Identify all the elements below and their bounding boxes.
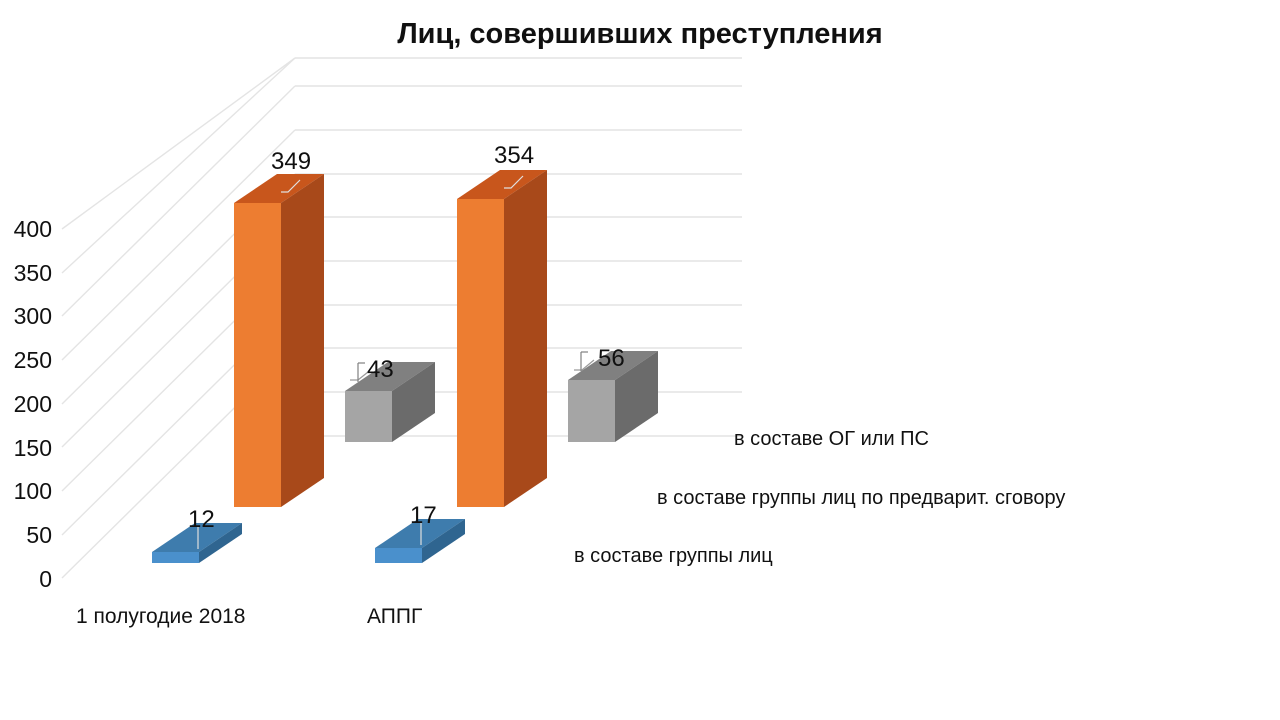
y-axis-tick-50: 50 — [0, 524, 52, 547]
value-label-g1-og-ps: 43 — [367, 358, 394, 382]
y-axis-tick-0: 0 — [0, 568, 52, 591]
x-axis-category-1: 1 полугодие 2018 — [76, 605, 246, 629]
value-label-g2-og-ps: 56 — [598, 347, 625, 371]
y-axis-tick-100: 100 — [0, 480, 52, 503]
y-axis-tick-400: 400 — [0, 218, 52, 241]
value-label-g1-gruppy-lic: 12 — [188, 508, 215, 532]
bar-g2-series-predvarit-sgovor[interactable] — [457, 170, 547, 507]
legend-item-predvarit-sgovor[interactable]: в составе группы лиц по предварит. сгово… — [657, 488, 1065, 508]
value-label-g2-predvarit-sgovor: 354 — [494, 144, 534, 168]
y-axis-tick-200: 200 — [0, 393, 52, 416]
y-axis-tick-150: 150 — [0, 437, 52, 460]
value-label-g1-predvarit-sgovor: 349 — [271, 150, 311, 174]
chart-canvas: Лиц, совершивших преступления — [0, 0, 1280, 720]
legend-item-gruppy-lic[interactable]: в составе группы лиц — [574, 546, 773, 566]
legend-item-og-ps[interactable]: в составе ОГ или ПС — [734, 429, 929, 449]
x-axis-category-2: АППГ — [367, 605, 422, 629]
y-axis-tick-300: 300 — [0, 305, 52, 328]
bar-g1-series-predvarit-sgovor[interactable] — [234, 174, 324, 507]
y-axis-tick-350: 350 — [0, 262, 52, 285]
value-label-g2-gruppy-lic: 17 — [410, 504, 437, 528]
y-axis-tick-250: 250 — [0, 349, 52, 372]
